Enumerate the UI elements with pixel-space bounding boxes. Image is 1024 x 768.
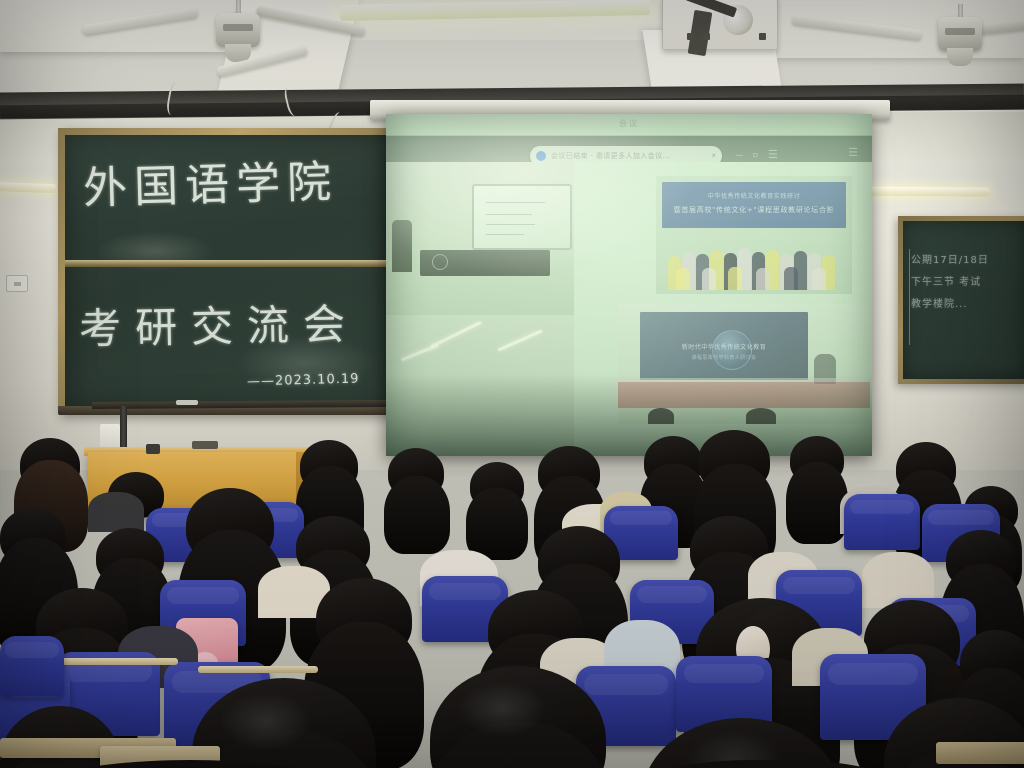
projection-screen[interactable]: 会议 会议已结束 · 邀请更多人加入会议… × — ▫ ☰ ☰ 正在共享 13时… [386,114,872,456]
wall-socket [6,275,28,292]
video-pane-left[interactable] [386,162,574,456]
meeting-invite-text: 会议已结束 · 邀请更多人加入会议… [551,151,670,161]
event-banner: 中华优秀传统文化教育实践研讨 暨首届高校"传统文化+"课程思政教研论坛合影 [662,182,846,228]
close-icon[interactable]: ☰ [768,148,778,161]
audience-area [0,430,1024,768]
lecture-chair[interactable] [0,636,64,696]
ceiling-light-streak [401,343,439,361]
group-photo-people [666,232,844,290]
student-hair [466,488,528,560]
ceiling-fan-left-far [300,44,372,92]
lecture-chair[interactable] [844,494,920,550]
audience-head [746,408,776,424]
app-title: 会议 [619,118,639,129]
classroom-photo-scene: 外国语学院 考研交流会 ——2023.10.19 公期17日/18日 下午三节 … [0,0,1024,768]
banner-line-1: 中华优秀传统文化教育实践研讨 [708,191,800,200]
ceiling-projector [662,0,778,50]
projector-port [703,33,710,40]
hall-presentation-screen: 新时代中华优秀传统文化教育 课程思政与学科育人研讨会 [640,312,808,380]
hair-highlight [456,680,548,738]
projector-port [687,33,694,40]
student-clothing [88,492,144,532]
hall-slide-title: 新时代中华优秀传统文化教育 [682,342,767,351]
maximize-icon[interactable]: ▫ [752,148,759,161]
minimize-icon[interactable]: — [736,148,743,161]
menu-icon[interactable]: ☰ [848,146,858,159]
projected-desktop[interactable]: 会议 会议已结束 · 邀请更多人加入会议… × — ▫ ☰ ☰ 正在共享 13时… [386,114,872,456]
podium-emblem-icon [432,254,448,270]
app-title-bar: 会议 [386,114,872,136]
main-blackboard: 外国语学院 考研交流会 ——2023.10.19 [58,128,393,414]
side-blackboard-surface: 公期17日/18日 下午三节 考试 教学楼院... [903,221,1024,379]
side-board-divider [909,249,910,345]
user-avatar-icon [536,151,546,161]
fluorescent-tube-wall-left [0,182,56,193]
ceiling-light-streak [497,329,542,351]
blackboard-subtitle: 考研交流会 [78,291,359,357]
side-board-line-1: 公期17日/18日 [911,251,989,266]
chalk-stick [176,400,198,405]
student-hair [786,462,848,544]
group-photo-card: 中华优秀传统文化教育实践研讨 暨首届高校"传统文化+"课程思政教研论坛合影 [656,176,852,294]
student-desk-edge [198,666,318,673]
side-blackboard: 公期17日/18日 下午三节 考试 教学楼院... [898,216,1024,384]
hair-highlight [218,692,314,752]
blackboard-surface: 外国语学院 考研交流会 ——2023.10.19 [65,135,386,407]
banner-line-2: 暨首届高校"传统文化+"课程思政教研论坛合影 [674,205,835,215]
blackboard-title: 外国语学院 [82,146,339,217]
hall-slide-subtitle: 课程思政与学科育人研讨会 [692,354,757,361]
student-desk-edge [48,658,178,665]
fan-cap [947,48,973,66]
fan-motor-housing [938,17,982,51]
room-display-screen [472,184,572,250]
blackboard-divider [65,260,386,267]
video-pane-right[interactable]: 中华优秀传统文化教育实践研讨 暨首届高校"传统文化+"课程思政教研论坛合影 [574,162,872,456]
student-desk [936,742,1024,764]
close-icon[interactable]: × [711,151,716,160]
lecture-room-photo-upper [386,162,574,315]
side-board-line-3: 教学楼院... [911,295,968,310]
fan-motor-housing [216,13,260,47]
student-hair [384,476,450,554]
person-standing [392,220,412,272]
blackboard-date: ——2023.10.19 [247,372,360,390]
audience-head [648,408,674,424]
ceiling-fan-right [914,4,1006,66]
conference-hall-photo-card: 新时代中华优秀传统文化教育 课程思政与学科育人研讨会 [618,304,870,424]
side-board-line-2: 下午三节 考试 [911,273,981,288]
hall-stage-front [618,382,870,408]
projector-port [759,33,766,40]
